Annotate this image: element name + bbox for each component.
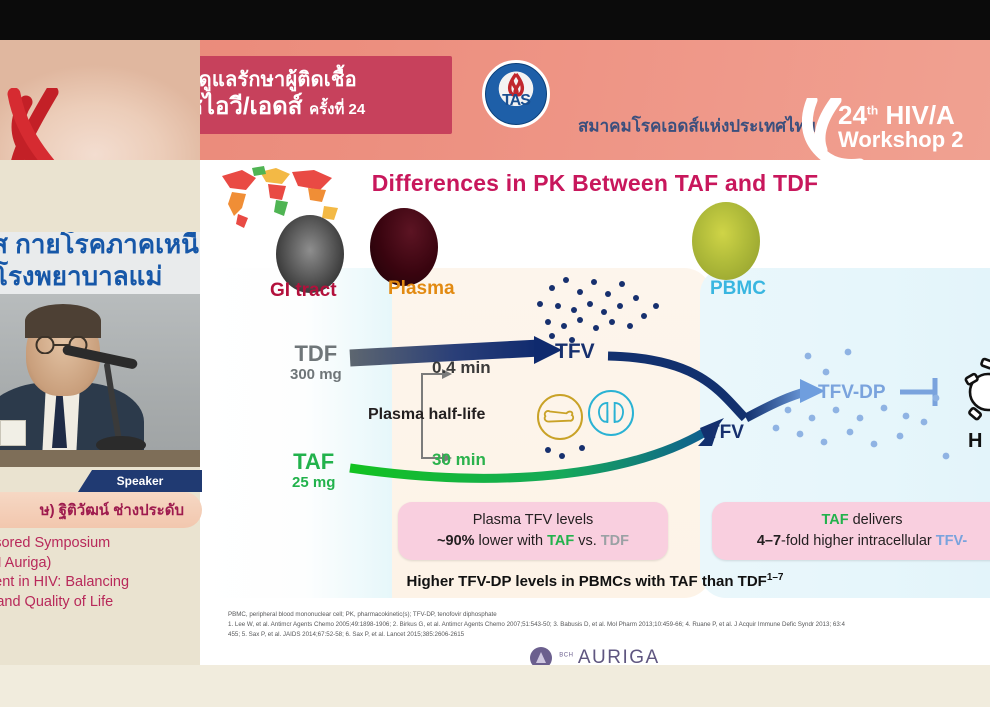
auriga-superscript: BCH: [559, 653, 573, 659]
red-aids-ribbon-icon: [6, 88, 84, 160]
thai-title-suffix: ครั้งที่ 24: [309, 101, 365, 118]
top-black-bar: [0, 0, 990, 40]
drug-taf-name: TAF: [292, 450, 335, 473]
speaker-badge-label: Speaker: [117, 474, 164, 488]
speaker-hair: [25, 304, 101, 338]
bone-icon: [537, 394, 583, 440]
callout-taf-intracellular: TAF delivers 4–7-fold higher intracellul…: [712, 502, 990, 560]
drug-tdf: TDF 300 mg: [290, 342, 342, 385]
node-hiv-label: H: [968, 430, 982, 453]
workshop-logo: 24th HIV/A Workshop 2: [838, 102, 964, 151]
bottom-strip: [0, 665, 990, 707]
workshop-white-ribbon-icon: [802, 98, 868, 160]
callout-right-line2: 4–7-fold higher intracellular TFV-: [726, 531, 990, 552]
kidney-icon: [588, 390, 634, 436]
callout-plasma-tfv: Plasma TFV levels ~90% lower with TAF vs…: [398, 502, 668, 560]
plasma-half-life-group: Plasma half-life 0.4 min 30 min: [368, 360, 543, 470]
screen: การดูแลรักษาผู้ติดเชื้อ เอชไอวี/เอดส์ คร…: [0, 0, 990, 707]
drug-taf-dose: 25 mg: [292, 473, 335, 493]
callout-right-line1: TAF delivers: [726, 510, 990, 531]
node-tfv-dp: TFV-DP: [818, 382, 886, 404]
half-life-label: Plasma half-life: [368, 406, 485, 424]
half-life-tdf-value: 0.4 min: [432, 358, 491, 378]
drug-tdf-name: TDF: [290, 342, 342, 365]
auriga-mark-icon: [530, 647, 552, 665]
backdrop-thai-line2: โรงพยาบาลแม่: [0, 256, 200, 297]
speaker-name: ษ) ฐิติวัฒน์ ช่างประดับ: [40, 498, 184, 522]
drug-taf: TAF 25 mg: [292, 450, 335, 493]
callout-left-line2: ~90% lower with TAF vs. TDF: [412, 531, 654, 552]
presentation-slide: Differences in PK Between TAF and TDF GI…: [200, 160, 990, 665]
speaker-name-bar: ษ) ฐิติวัฒน์ ช่างประดับ: [0, 492, 202, 528]
node-tfv-plasma: TFV: [555, 340, 595, 364]
half-life-taf-value: 30 min: [432, 450, 486, 470]
speaker-badge: Speaker: [78, 470, 202, 492]
auriga-wordmark: BCH AURIGA: [559, 647, 659, 665]
slide-caption: Higher TFV-DP levels in PBMCs with TAF t…: [200, 572, 990, 590]
footnote-references-line1: 1. Lee W, et al. Antimcr Agents Chemo 20…: [228, 620, 984, 630]
association-name-thai: สมาคมโรคเอดส์แห่งประเทศไทย: [578, 113, 816, 140]
session-description-line-2: DCH Auriga): [0, 554, 200, 574]
speaker-video-feed[interactable]: ส กายโรคภาคเหนือ โรงพยาบาลแม่: [0, 232, 200, 467]
tas-logo-text: TAS: [490, 92, 542, 110]
desk-surface: [0, 450, 200, 467]
thai-title-line2: เอชไอวี/เอดส์ ครั้งที่ 24: [164, 93, 440, 121]
conference-banner: การดูแลรักษาผู้ติดเชื้อ เอชไอวี/เอดส์ คร…: [0, 40, 990, 160]
caption-references: 1–7: [767, 572, 784, 583]
tas-logo: TAS: [482, 60, 550, 128]
node-tfv-cell: TFV: [708, 422, 744, 444]
session-description-line-4: ety, and Quality of Life: [0, 593, 200, 613]
drug-tdf-dose: 300 mg: [290, 365, 342, 385]
desk-nameplate: [0, 420, 26, 446]
footnote-references-line2: 455; 5. Sax P, et al. JAIDS 2014;67:52-5…: [228, 630, 984, 640]
slide-footnote: PBMC, peripheral blood mononuclear cell;…: [228, 610, 984, 641]
auriga-logo: BCH AURIGA: [200, 647, 990, 665]
callout-left-line1: Plasma TFV levels: [412, 510, 654, 531]
session-description: ponsored Symposium DCH Auriga) atment in…: [0, 534, 200, 612]
session-description-line-1: ponsored Symposium: [0, 534, 200, 554]
thai-title-line1: การดูแลรักษาผู้ติดเชื้อ: [164, 69, 440, 93]
footnote-abbreviations: PBMC, peripheral blood mononuclear cell;…: [228, 610, 984, 620]
session-description-line-3: atment in HIV: Balancing: [0, 573, 200, 593]
